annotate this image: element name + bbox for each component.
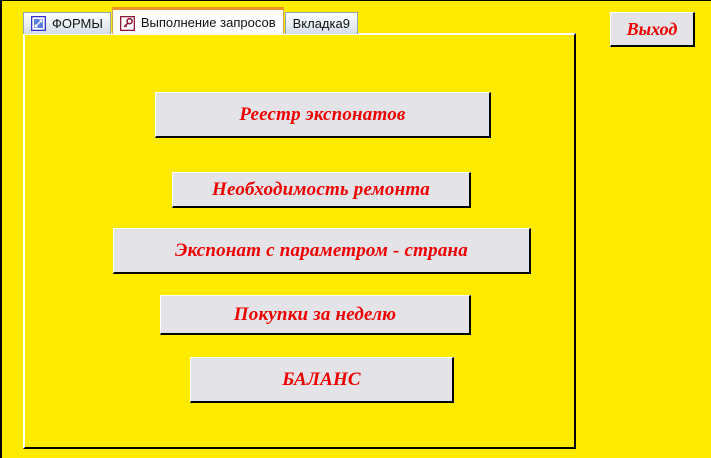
exhibit-by-country-button-label: Экспонат с параметром - страна	[175, 240, 468, 262]
repair-need-button[interactable]: Необходимость ремонта	[172, 172, 471, 208]
exit-button-label: Выход	[627, 19, 678, 40]
application-window: ФОРМЫ Выполнение запросов Вкладка9 Реест	[0, 0, 711, 458]
tab-queries[interactable]: Выполнение запросов	[112, 7, 284, 34]
form-icon	[31, 16, 46, 31]
tab-control: ФОРМЫ Выполнение запросов Вкладка9 Реест	[23, 7, 576, 449]
repair-need-button-label: Необходимость ремонта	[212, 179, 430, 201]
exhibit-by-country-button[interactable]: Экспонат с параметром - страна	[113, 228, 531, 274]
tab-queries-label: Выполнение запросов	[141, 13, 276, 33]
balance-button-label: БАЛАНС	[282, 369, 361, 391]
tab-tab9-label: Вкладка9	[293, 14, 350, 34]
tab-page-queries: Реестр экспонатов Необходимость ремонта …	[23, 33, 576, 449]
registry-button-label: Реестр экспонатов	[239, 104, 405, 126]
balance-button[interactable]: БАЛАНС	[190, 357, 454, 403]
tab-forms[interactable]: ФОРМЫ	[23, 12, 111, 34]
exit-button[interactable]: Выход	[610, 12, 695, 47]
tab-forms-label: ФОРМЫ	[52, 14, 103, 34]
weekly-purchases-button[interactable]: Покупки за неделю	[160, 295, 471, 335]
key-icon	[120, 16, 135, 31]
weekly-purchases-button-label: Покупки за неделю	[234, 304, 396, 326]
tab-tab9[interactable]: Вкладка9	[285, 12, 358, 34]
tab-strip: ФОРМЫ Выполнение запросов Вкладка9	[23, 7, 358, 34]
registry-button[interactable]: Реестр экспонатов	[155, 92, 491, 138]
